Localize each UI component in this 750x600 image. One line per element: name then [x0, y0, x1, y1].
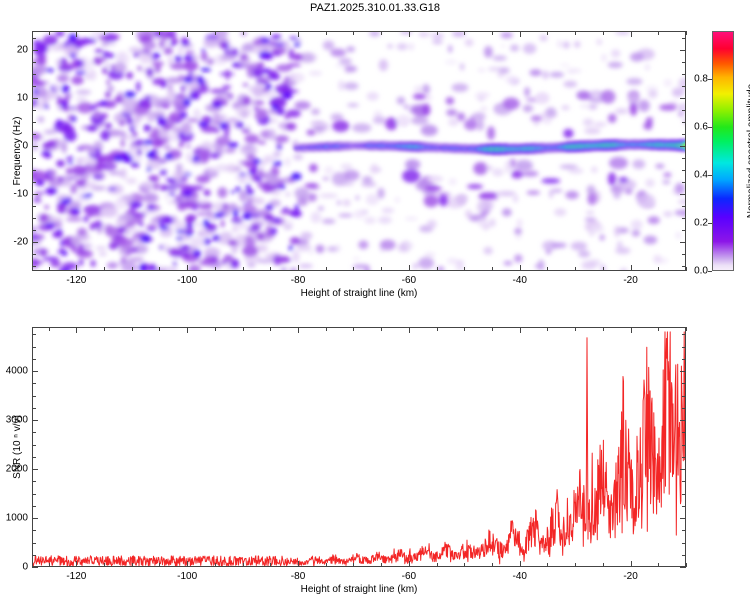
axis-tick	[32, 420, 38, 421]
axis-tick	[215, 327, 216, 331]
axis-tick	[547, 327, 548, 331]
axis-tick	[520, 327, 521, 333]
axis-tick	[32, 98, 38, 99]
axis-tick	[32, 182, 36, 183]
axis-tick	[298, 561, 299, 567]
axis-tick	[159, 31, 160, 35]
axis-tick	[682, 530, 686, 531]
axis-tick	[270, 563, 271, 567]
axis-tick	[575, 31, 576, 35]
axis-tick	[682, 86, 686, 87]
axis-tick	[682, 334, 686, 335]
axis-tick	[326, 327, 327, 331]
axis-tick	[631, 327, 632, 333]
axis-tick	[682, 218, 686, 219]
axis-tick	[32, 494, 36, 495]
axis-tick	[76, 265, 77, 271]
axis-tick	[243, 267, 244, 271]
axis-tick	[381, 327, 382, 331]
spectrogram-axes[interactable]	[32, 31, 686, 271]
axis-tick	[547, 563, 548, 567]
axis-tick	[682, 555, 686, 556]
axis-tick	[682, 457, 686, 458]
axis-tick	[682, 481, 686, 482]
axis-ticklabel: -100	[177, 571, 197, 582]
axis-tick	[682, 383, 686, 384]
axis-tick	[686, 267, 687, 271]
axis-tick	[187, 31, 188, 37]
snr-axes[interactable]	[32, 327, 686, 567]
snr-trace	[33, 332, 686, 567]
axis-tick	[682, 432, 686, 433]
axis-tick	[381, 563, 382, 567]
colorbar-ticklabel: 0.4	[694, 170, 708, 181]
axis-tick	[32, 86, 36, 87]
axis-tick	[682, 543, 686, 544]
axis-tick	[32, 481, 36, 482]
axis-tick	[680, 420, 686, 421]
spectrogram-y-axis-title: Frequency (Hz)	[12, 117, 23, 186]
axis-tick	[631, 265, 632, 271]
colorbar-ticklabel: 0.8	[694, 74, 708, 85]
axis-tick	[680, 146, 686, 147]
axis-tick	[680, 194, 686, 195]
axis-tick	[49, 31, 50, 35]
axis-tick	[32, 359, 36, 360]
axis-tick	[32, 457, 36, 458]
axis-tick	[464, 563, 465, 567]
axis-tick	[243, 327, 244, 331]
axis-tick	[409, 265, 410, 271]
axis-tick	[187, 327, 188, 333]
axis-tick	[270, 31, 271, 35]
axis-tick	[32, 567, 38, 568]
axis-ticklabel: -80	[291, 275, 305, 286]
axis-tick	[32, 408, 36, 409]
axis-tick	[32, 371, 38, 372]
axis-tick	[243, 31, 244, 35]
axis-tick	[492, 327, 493, 331]
axis-tick	[215, 267, 216, 271]
axis-tick	[32, 170, 36, 171]
axis-ticklabel: -20	[623, 275, 637, 286]
axis-tick	[437, 563, 438, 567]
axis-tick	[680, 371, 686, 372]
axis-tick	[132, 267, 133, 271]
axis-ticklabel: -20	[623, 571, 637, 582]
axis-tick	[409, 31, 410, 37]
axis-tick	[547, 31, 548, 35]
axis-tick	[682, 182, 686, 183]
axis-tick	[682, 62, 686, 63]
axis-tick	[682, 158, 686, 159]
axis-tick	[492, 267, 493, 271]
axis-tick	[658, 267, 659, 271]
axis-tick	[215, 31, 216, 35]
axis-tick	[132, 327, 133, 331]
figure-canvas: PAZ1.2025.310.01.33.G18 -120-100-80-60-4…	[0, 0, 750, 600]
axis-ticklabel: -40	[512, 571, 526, 582]
axis-tick	[492, 563, 493, 567]
axis-tick	[32, 74, 36, 75]
axis-tick	[492, 31, 493, 35]
colorbar-tick	[708, 223, 712, 224]
axis-tick	[680, 50, 686, 51]
colorbar-ticklabel: 0.0	[694, 266, 708, 277]
axis-tick	[270, 267, 271, 271]
axis-tick	[682, 230, 686, 231]
colorbar[interactable]: 0.00.20.40.60.8	[712, 31, 734, 271]
colorbar-tick	[708, 271, 712, 272]
axis-tick	[682, 74, 686, 75]
colorbar-ticklabel: 0.2	[694, 218, 708, 229]
colorbar-tick	[708, 79, 712, 80]
axis-tick	[603, 31, 604, 35]
axis-tick	[326, 563, 327, 567]
axis-tick	[270, 327, 271, 331]
axis-tick	[682, 206, 686, 207]
axis-tick	[76, 31, 77, 37]
snr-y-axis-title: SNR (10 ⁿ v/v)	[12, 415, 23, 479]
axis-tick	[32, 347, 36, 348]
axis-ticklabel: -120	[66, 571, 86, 582]
axis-tick	[32, 62, 36, 63]
axis-tick	[682, 170, 686, 171]
axis-tick	[76, 327, 77, 333]
axis-tick	[187, 561, 188, 567]
axis-ticklabel: 10	[0, 93, 28, 104]
axis-tick	[520, 561, 521, 567]
snr-line-plot	[33, 328, 686, 567]
axis-tick	[437, 267, 438, 271]
axis-tick	[32, 38, 36, 39]
axis-tick	[32, 50, 38, 51]
axis-tick	[159, 267, 160, 271]
axis-tick	[32, 266, 36, 267]
axis-ticklabel: -60	[402, 275, 416, 286]
colorbar-tick	[708, 175, 712, 176]
axis-tick	[682, 347, 686, 348]
axis-ticklabel: 20	[0, 45, 28, 56]
axis-tick	[32, 518, 38, 519]
axis-tick	[187, 265, 188, 271]
axis-tick	[680, 567, 686, 568]
axis-tick	[686, 31, 687, 35]
axis-tick	[32, 134, 36, 135]
axis-tick	[686, 563, 687, 567]
axis-tick	[32, 445, 36, 446]
axis-tick	[159, 563, 160, 567]
axis-tick	[49, 327, 50, 331]
axis-tick	[603, 563, 604, 567]
axis-tick	[243, 563, 244, 567]
spectrogram-x-axis-title: Height of straight line (km)	[301, 288, 418, 299]
axis-tick	[575, 267, 576, 271]
axis-tick	[682, 396, 686, 397]
snr-x-axis-title: Height of straight line (km)	[301, 584, 418, 595]
colorbar-tick	[708, 127, 712, 128]
axis-tick	[32, 122, 36, 123]
axis-tick	[631, 561, 632, 567]
axis-tick	[32, 396, 36, 397]
axis-tick	[682, 134, 686, 135]
axis-tick	[680, 98, 686, 99]
axis-ticklabel: -120	[66, 275, 86, 286]
axis-tick	[32, 530, 36, 531]
axis-tick	[658, 31, 659, 35]
axis-tick	[298, 327, 299, 333]
axis-ticklabel: -80	[291, 571, 305, 582]
axis-tick	[658, 327, 659, 331]
axis-tick	[49, 267, 50, 271]
axis-tick	[437, 31, 438, 35]
axis-tick	[464, 31, 465, 35]
axis-tick	[353, 563, 354, 567]
axis-tick	[32, 334, 36, 335]
axis-ticklabel: -100	[177, 275, 197, 286]
axis-tick	[464, 267, 465, 271]
axis-ticklabel: -20	[0, 237, 28, 248]
axis-tick	[381, 31, 382, 35]
axis-tick	[32, 146, 38, 147]
axis-tick	[326, 267, 327, 271]
axis-tick	[437, 327, 438, 331]
axis-tick	[132, 563, 133, 567]
axis-ticklabel: -60	[402, 571, 416, 582]
axis-tick	[326, 31, 327, 35]
axis-ticklabel: 4000	[0, 366, 28, 377]
axis-tick	[603, 327, 604, 331]
axis-ticklabel: 1000	[0, 513, 28, 524]
axis-tick	[104, 31, 105, 35]
axis-tick	[680, 469, 686, 470]
axis-tick	[353, 31, 354, 35]
axis-tick	[682, 445, 686, 446]
colorbar-ticklabel: 0.6	[694, 122, 708, 133]
axis-tick	[32, 469, 38, 470]
axis-tick	[32, 158, 36, 159]
axis-ticklabel: -10	[0, 189, 28, 200]
axis-tick	[215, 563, 216, 567]
axis-tick	[682, 359, 686, 360]
axis-tick	[104, 563, 105, 567]
axis-tick	[575, 327, 576, 331]
axis-tick	[32, 432, 36, 433]
axis-tick	[298, 265, 299, 271]
figure-title: PAZ1.2025.310.01.33.G18	[0, 2, 750, 14]
axis-tick	[682, 408, 686, 409]
axis-tick	[658, 563, 659, 567]
spectrogram-image	[33, 32, 686, 271]
axis-tick	[353, 327, 354, 331]
axis-tick	[132, 31, 133, 35]
axis-tick	[32, 543, 36, 544]
axis-tick	[680, 518, 686, 519]
axis-ticklabel: 0	[0, 562, 28, 573]
axis-tick	[32, 110, 36, 111]
axis-tick	[680, 242, 686, 243]
colorbar-axis-title: Normalized spectral amplitude	[746, 84, 750, 219]
axis-tick	[631, 31, 632, 37]
axis-tick	[682, 110, 686, 111]
colorbar-gradient	[712, 31, 734, 271]
axis-tick	[686, 327, 687, 331]
axis-tick	[381, 267, 382, 271]
axis-tick	[32, 218, 36, 219]
axis-tick	[409, 327, 410, 333]
axis-tick	[575, 563, 576, 567]
axis-tick	[682, 494, 686, 495]
axis-tick	[353, 267, 354, 271]
axis-tick	[104, 327, 105, 331]
axis-tick	[32, 506, 36, 507]
axis-tick	[159, 327, 160, 331]
axis-tick	[520, 265, 521, 271]
axis-tick	[32, 206, 36, 207]
axis-tick	[32, 242, 38, 243]
axis-ticklabel: -40	[512, 275, 526, 286]
axis-tick	[32, 230, 36, 231]
axis-tick	[298, 31, 299, 37]
axis-tick	[520, 31, 521, 37]
axis-tick	[32, 383, 36, 384]
axis-tick	[49, 563, 50, 567]
axis-tick	[547, 267, 548, 271]
axis-tick	[603, 267, 604, 271]
axis-tick	[76, 561, 77, 567]
axis-tick	[32, 555, 36, 556]
axis-tick	[32, 194, 38, 195]
axis-tick	[682, 122, 686, 123]
axis-tick	[32, 254, 36, 255]
axis-tick	[682, 38, 686, 39]
axis-tick	[682, 266, 686, 267]
axis-tick	[104, 267, 105, 271]
axis-tick	[409, 561, 410, 567]
axis-tick	[682, 254, 686, 255]
axis-tick	[464, 327, 465, 331]
axis-tick	[682, 506, 686, 507]
